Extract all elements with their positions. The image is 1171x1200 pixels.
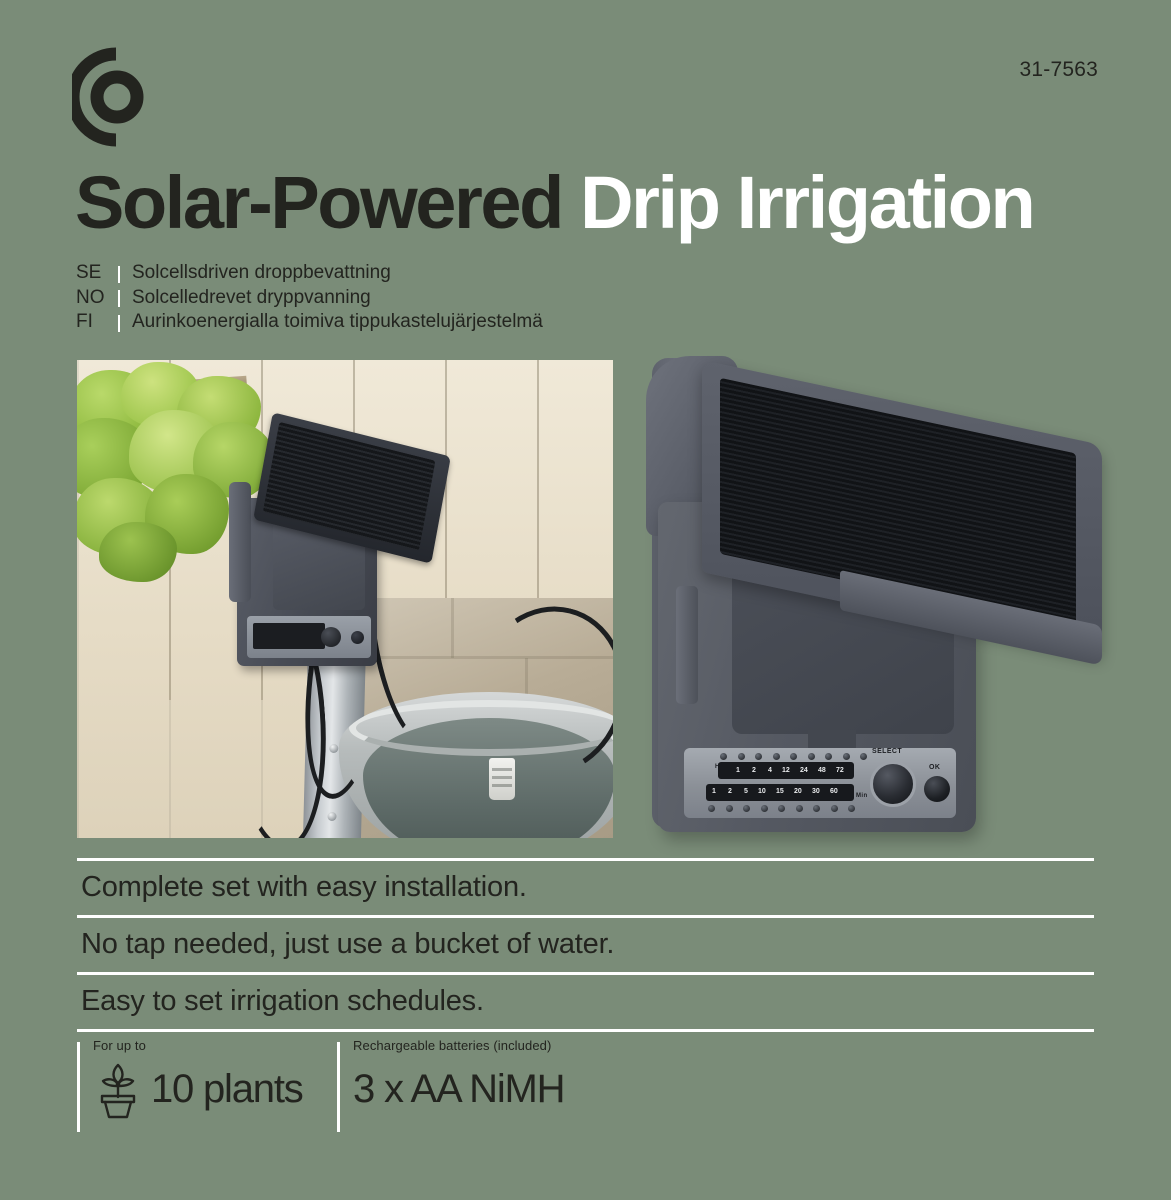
photo-controller-panel bbox=[247, 616, 371, 658]
photo-irrigation-controller bbox=[217, 432, 437, 672]
translation-row-no: NO Solcelledrevet dryppvanning bbox=[76, 287, 543, 312]
photo-controller-led-strip bbox=[253, 623, 325, 649]
translation-row-fi: FI Aurinkoenergialla toimiva tippukastel… bbox=[76, 311, 543, 336]
potted-plant-icon bbox=[93, 1059, 143, 1119]
spec-plant-capacity: For up to 10 plants bbox=[77, 1038, 337, 1138]
photo-ok-button bbox=[351, 631, 364, 644]
benefits-list: Complete set with easy installation. No … bbox=[77, 858, 1094, 1032]
spec-caption-battery: Rechargeable batteries (included) bbox=[353, 1038, 717, 1053]
language-code-se: SE bbox=[76, 262, 118, 284]
minutes-led-row-bottom bbox=[708, 805, 855, 812]
spec-value-battery: 3 x AA NiMH bbox=[353, 1069, 564, 1109]
minutes-value-1: 1 bbox=[712, 788, 716, 795]
hours-value-72: 72 bbox=[836, 767, 844, 774]
minutes-value-10: 10 bbox=[758, 788, 766, 795]
hours-value-1: 1 bbox=[736, 767, 740, 774]
hours-led-row-top bbox=[720, 753, 867, 760]
hours-value-24: 24 bbox=[800, 767, 808, 774]
translation-text-se: Solcellsdriven droppbevattning bbox=[132, 262, 391, 284]
ok-button[interactable] bbox=[924, 776, 950, 802]
hours-value-4: 4 bbox=[768, 767, 772, 774]
spec-divider bbox=[337, 1042, 340, 1132]
spec-value-plants: 10 plants bbox=[151, 1069, 303, 1109]
hours-value-48: 48 bbox=[818, 767, 826, 774]
hours-value-2: 2 bbox=[752, 767, 756, 774]
product-code: 31-7563 bbox=[1020, 58, 1098, 82]
spec-caption-plants: For up to bbox=[93, 1038, 337, 1053]
header: 31-7563 bbox=[0, 0, 1171, 160]
language-divider bbox=[118, 315, 120, 332]
benefit-divider bbox=[77, 1029, 1094, 1032]
photo-select-dial bbox=[321, 627, 341, 647]
language-code-fi: FI bbox=[76, 311, 118, 333]
translations-list: SE Solcellsdriven droppbevattning NO Sol… bbox=[76, 262, 543, 336]
minutes-value-20: 20 bbox=[794, 788, 802, 795]
select-dial[interactable] bbox=[870, 761, 916, 807]
specs-row: For up to 10 plants Rechargeable bat bbox=[77, 1038, 777, 1138]
benefit-item-2: No tap needed, just use a bucket of wate… bbox=[77, 918, 1094, 972]
title-part-secondary: Drip Irrigation bbox=[562, 161, 1033, 244]
spec-battery-type: Rechargeable batteries (included) 3 x AA… bbox=[337, 1038, 717, 1138]
render-side-clip bbox=[676, 586, 698, 704]
translation-row-se: SE Solcellsdriven droppbevattning bbox=[76, 262, 543, 287]
ok-label: OK bbox=[929, 764, 940, 771]
translation-text-no: Solcelledrevet dryppvanning bbox=[132, 287, 371, 309]
translation-text-fi: Aurinkoenergialla toimiva tippukastelujä… bbox=[132, 311, 543, 333]
minutes-value-30: 30 bbox=[812, 788, 820, 795]
page-title: Solar-Powered Drip Irrigation bbox=[75, 166, 1033, 240]
minutes-value-2: 2 bbox=[728, 788, 732, 795]
lifestyle-photo bbox=[77, 360, 613, 838]
benefit-item-1: Complete set with easy installation. bbox=[77, 861, 1094, 915]
spec-divider bbox=[77, 1042, 80, 1132]
select-label: SELECT bbox=[872, 748, 902, 755]
minutes-value-15: 15 bbox=[776, 788, 784, 795]
hours-value-12: 12 bbox=[782, 767, 790, 774]
language-divider bbox=[118, 266, 120, 283]
minutes-value-5: 5 bbox=[744, 788, 748, 795]
product-render: Hrs Min 1 2 4 12 24 48 72 1 2 5 10 15 20… bbox=[640, 352, 1100, 850]
photo-intake-filter bbox=[489, 758, 515, 800]
language-code-no: NO bbox=[76, 287, 118, 309]
brand-logo-icon bbox=[72, 47, 144, 147]
minutes-label: Min bbox=[856, 793, 868, 799]
minutes-value-60: 60 bbox=[830, 788, 838, 795]
title-part-primary: Solar-Powered bbox=[75, 161, 562, 244]
language-divider bbox=[118, 290, 120, 307]
render-control-panel: Hrs Min 1 2 4 12 24 48 72 1 2 5 10 15 20… bbox=[684, 748, 956, 818]
benefit-item-3: Easy to set irrigation schedules. bbox=[77, 975, 1094, 1029]
photo-controller-hinge bbox=[229, 482, 251, 602]
